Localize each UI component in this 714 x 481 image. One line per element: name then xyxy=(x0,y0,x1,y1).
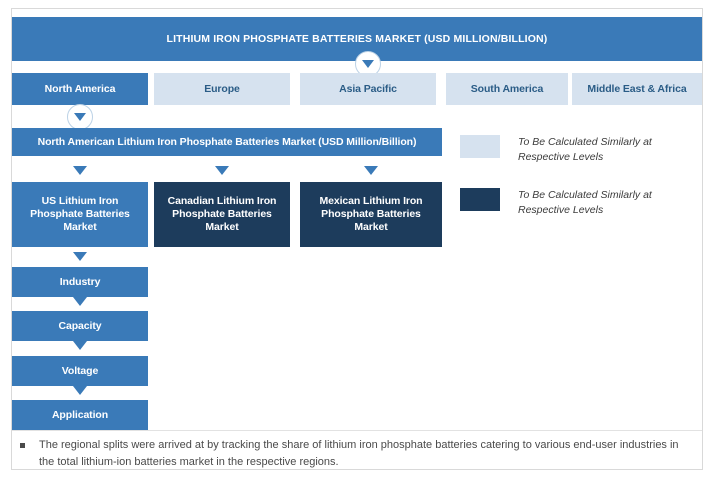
footnote-divider xyxy=(12,430,702,431)
arrow-to-industry-icon xyxy=(73,252,87,261)
legend-item-dark: To Be Calculated Similarly at Respective… xyxy=(460,188,698,218)
legend-swatch-light xyxy=(460,135,500,158)
legend-swatch-dark xyxy=(460,188,500,211)
segment-box-industry[interactable]: Industry xyxy=(12,267,148,297)
arrow-to-voltage-icon xyxy=(73,341,87,350)
country-box-canada[interactable]: Canadian Lithium Iron Phosphate Batterie… xyxy=(154,182,290,247)
segment-box-application[interactable]: Application xyxy=(12,400,148,430)
arrow-to-canada-icon xyxy=(215,166,229,175)
triangle-down-icon xyxy=(74,113,86,121)
legend-label-dark: To Be Calculated Similarly at Respective… xyxy=(518,188,698,218)
region-box-south-america[interactable]: South America xyxy=(446,73,568,105)
region-box-middle-east-africa[interactable]: Middle East & Africa xyxy=(572,73,702,105)
triangle-down-icon xyxy=(362,60,374,68)
lifepo4-market-breakdown-diagram: LITHIUM IRON PHOSPHATE BATTERIES MARKET … xyxy=(0,0,714,481)
arrow-to-us-icon xyxy=(73,166,87,175)
segment-box-voltage[interactable]: Voltage xyxy=(12,356,148,386)
country-box-mexico[interactable]: Mexican Lithium Iron Phosphate Batteries… xyxy=(300,182,442,247)
arrow-to-mexico-icon xyxy=(364,166,378,175)
country-box-us[interactable]: US Lithium Iron Phosphate Batteries Mark… xyxy=(12,182,148,247)
segment-box-capacity[interactable]: Capacity xyxy=(12,311,148,341)
region-box-asia-pacific[interactable]: Asia Pacific xyxy=(300,73,436,105)
legend-item-light: To Be Calculated Similarly at Respective… xyxy=(460,135,698,165)
region-to-na-market-arrow-icon xyxy=(67,104,93,130)
arrow-to-application-icon xyxy=(73,386,87,395)
region-box-north-america[interactable]: North America xyxy=(12,73,148,105)
legend-label-light: To Be Calculated Similarly at Respective… xyxy=(518,135,698,165)
arrow-to-capacity-icon xyxy=(73,297,87,306)
footnote: The regional splits were arrived at by t… xyxy=(12,437,696,470)
footnote-text: The regional splits were arrived at by t… xyxy=(39,437,696,470)
bullet-square-icon xyxy=(20,443,25,448)
north-american-market-banner: North American Lithium Iron Phosphate Ba… xyxy=(12,128,442,156)
market-title-banner: LITHIUM IRON PHOSPHATE BATTERIES MARKET … xyxy=(12,17,702,61)
region-box-europe[interactable]: Europe xyxy=(154,73,290,105)
